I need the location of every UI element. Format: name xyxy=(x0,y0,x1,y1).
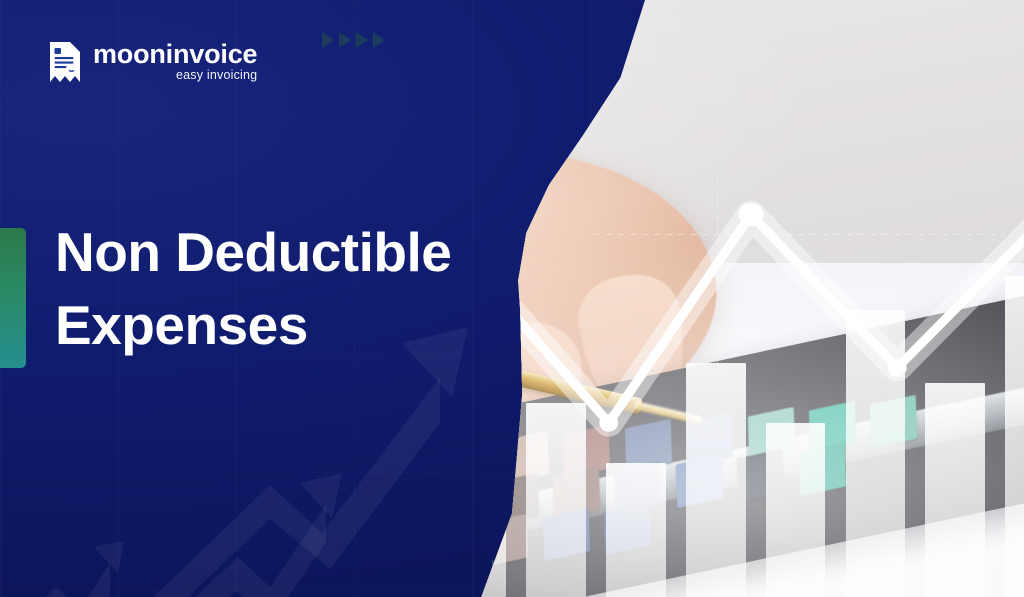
triangle-right-icon xyxy=(322,32,334,48)
brand-logo[interactable]: mooninvoice easy invoicing xyxy=(48,40,257,84)
left-accent-bar xyxy=(0,228,26,368)
page-title: Non Deductible Expenses xyxy=(55,216,525,361)
triangle-right-icon xyxy=(339,32,351,48)
hero-banner: mooninvoice easy invoicing Non Deductibl… xyxy=(0,0,1024,597)
triangle-right-icon xyxy=(356,32,368,48)
brand-name: mooninvoice xyxy=(93,41,257,69)
page-title-line-2: Expenses xyxy=(55,289,525,362)
brand-tagline: easy invoicing xyxy=(176,69,257,83)
brand-wordmark: mooninvoice easy invoicing xyxy=(93,41,257,83)
page-title-line-1: Non Deductible xyxy=(55,216,525,289)
triangle-right-icon xyxy=(373,32,385,48)
chevrons-top xyxy=(322,32,385,48)
invoice-document-bookmark-icon xyxy=(48,40,82,84)
